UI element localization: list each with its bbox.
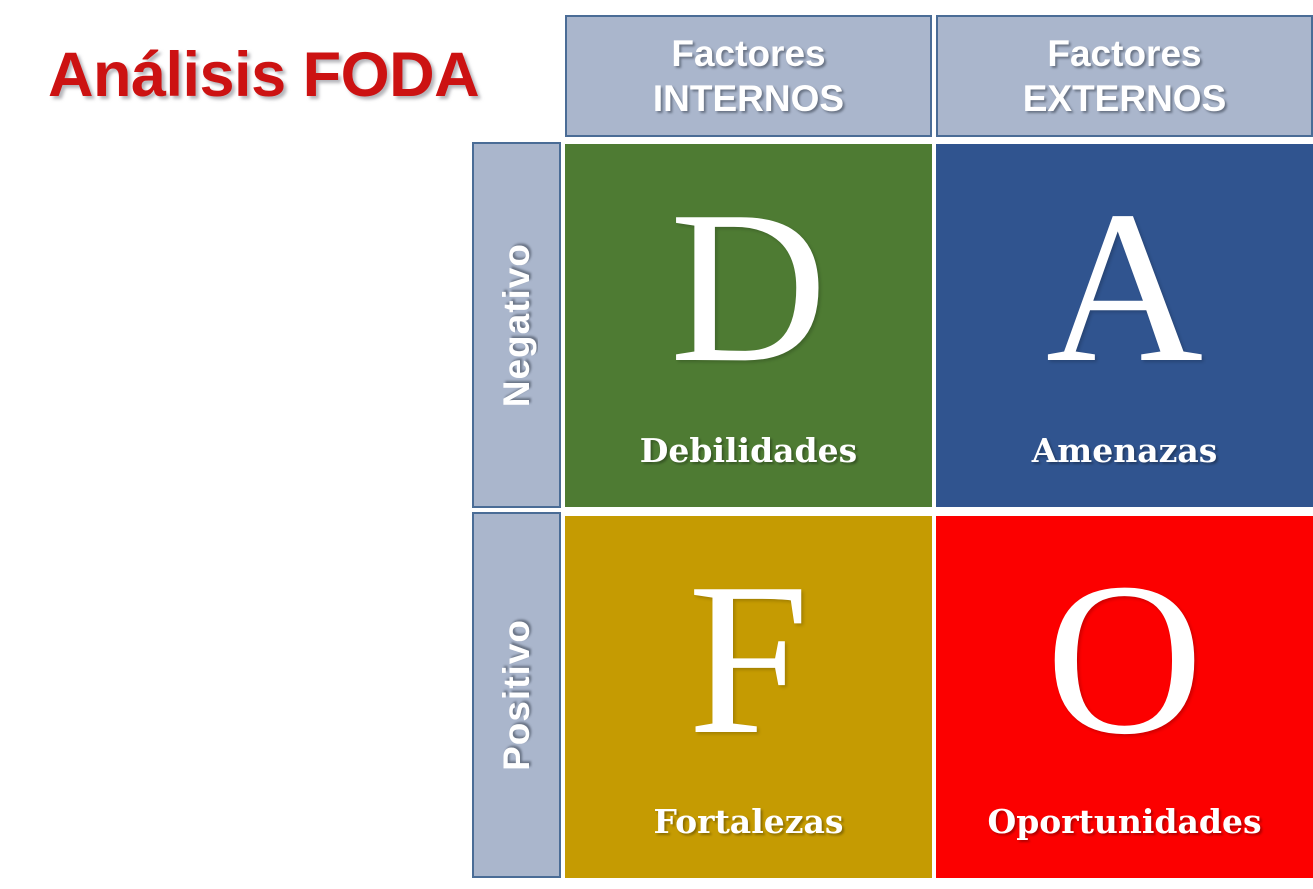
quadrant-fortalezas-label: Fortalezas	[565, 804, 932, 840]
column-header-factores-internos: Factores INTERNOS	[565, 15, 932, 137]
row-header-negativo: Negativo	[472, 142, 561, 508]
column-header-internos-label: Factores INTERNOS	[653, 31, 844, 121]
quadrant-debilidades-letter: D	[670, 174, 827, 402]
quadrant-amenazas-letter: A	[1046, 174, 1203, 402]
column-header-externos-label: Factores EXTERNOS	[1023, 31, 1227, 121]
quadrant-fortalezas: F Fortalezas	[565, 516, 932, 878]
quadrant-oportunidades-letter: O	[1046, 546, 1203, 774]
quadrant-amenazas: A Amenazas	[936, 144, 1313, 507]
column-header-factores-externos: Factores EXTERNOS	[936, 15, 1313, 137]
quadrant-oportunidades: O Oportunidades	[936, 516, 1313, 878]
row-header-positivo-label: Positivo	[494, 619, 539, 771]
quadrant-debilidades: D Debilidades	[565, 144, 932, 507]
quadrant-oportunidades-label: Oportunidades	[936, 804, 1313, 840]
quadrant-amenazas-label: Amenazas	[936, 433, 1313, 469]
row-header-negativo-label: Negativo	[494, 243, 539, 407]
row-header-positivo: Positivo	[472, 512, 561, 878]
quadrant-debilidades-label: Debilidades	[565, 433, 932, 469]
foda-matrix: Factores INTERNOS Factores EXTERNOS Nega…	[472, 15, 1313, 878]
quadrant-fortalezas-letter: F	[688, 546, 809, 774]
